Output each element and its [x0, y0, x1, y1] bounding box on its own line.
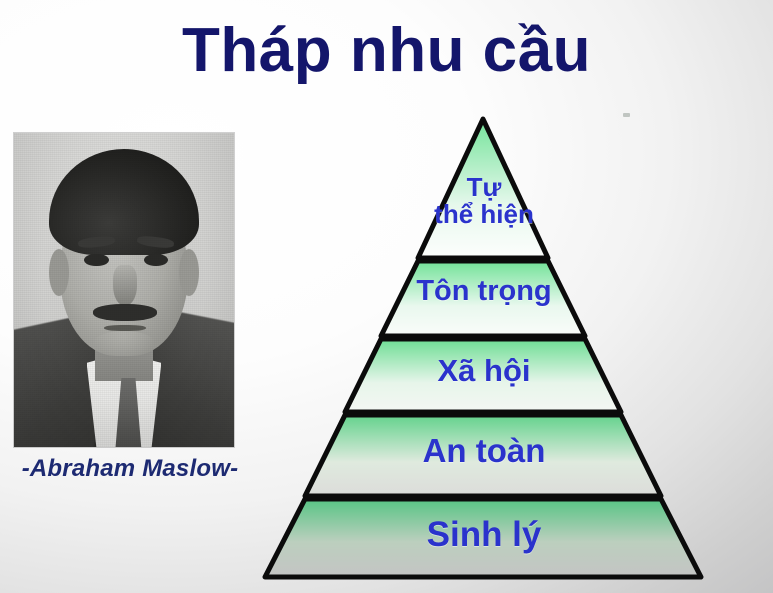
- pyramid-label-safety: An toàn: [204, 434, 764, 468]
- page-title: Tháp nhu cầu: [0, 18, 773, 83]
- abraham-maslow-photo: [14, 133, 234, 447]
- pyramid-label-social: Xã hội: [204, 355, 764, 387]
- portrait-figure: [14, 133, 234, 447]
- slide-canvas: Tháp nhu cầu -Abraham Maslow-: [0, 0, 773, 593]
- pyramid-label-esteem: Tôn trọng: [204, 277, 764, 307]
- pyramid-label-physiological: Sinh lý: [204, 517, 764, 553]
- pyramid-label-line: Tự: [204, 174, 764, 201]
- pyramid-label-line: thể hiện: [204, 201, 764, 228]
- needs-pyramid: Tự thể hiện Tôn trọng Xã hội An toàn Sin…: [204, 112, 764, 586]
- pyramid-label-self-actualization: Tự thể hiện: [204, 174, 764, 227]
- photo-vignette: [14, 133, 234, 447]
